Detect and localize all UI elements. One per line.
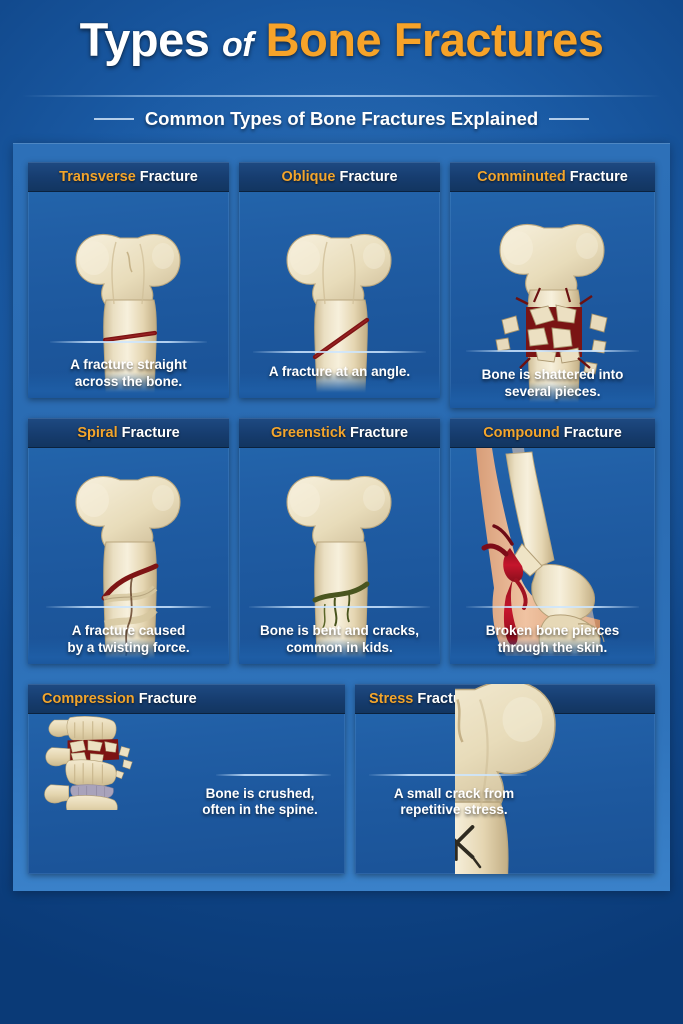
card-title-suffix: Fracture bbox=[350, 425, 408, 441]
card-comminuted-divider bbox=[466, 350, 639, 352]
card-compound-caption: Broken bone pierces through the skin. bbox=[450, 623, 655, 656]
card-compression-divider bbox=[216, 774, 331, 776]
caption-line-2: common in kids. bbox=[239, 640, 440, 656]
card-title-keyword: Compression bbox=[42, 691, 135, 707]
caption-line-2: across the bone. bbox=[28, 374, 229, 390]
card-compound-body: Broken bone pierces through the skin. bbox=[450, 448, 655, 664]
subtitle-dash-right bbox=[549, 118, 589, 120]
card-compression[interactable]: Compression Fracture bbox=[28, 684, 345, 874]
card-spiral-body: A fracture caused by a twisting force. bbox=[28, 448, 229, 664]
card-compression-caption: Bone is crushed, often in the spine. bbox=[185, 786, 335, 819]
title-word-bone-fractures: Bone Fractures bbox=[266, 13, 604, 66]
card-comminuted-header: Comminuted Fracture bbox=[450, 162, 655, 192]
card-title-suffix: Fracture bbox=[140, 169, 198, 185]
card-title-keyword: Transverse bbox=[59, 169, 136, 185]
card-oblique[interactable]: Oblique Fracture bbox=[239, 162, 440, 398]
caption-line-1: Broken bone pierces bbox=[450, 623, 655, 639]
card-title-keyword: Oblique bbox=[281, 169, 335, 185]
card-compound-title: Compound Fracture bbox=[483, 425, 622, 441]
card-oblique-divider bbox=[253, 351, 426, 353]
card-stress-body: A small crack from repetitive stress. bbox=[355, 714, 655, 874]
card-greenstick-caption: Bone is bent and cracks, common in kids. bbox=[239, 623, 440, 656]
card-greenstick[interactable]: Greenstick Fracture bbox=[239, 418, 440, 664]
cards-panel: Transverse Fracture bbox=[13, 143, 670, 891]
card-title-suffix: Fracture bbox=[139, 691, 197, 707]
card-compound-header: Compound Fracture bbox=[450, 418, 655, 448]
card-title-keyword: Spiral bbox=[77, 425, 117, 441]
card-comminuted-caption: Bone is shattered into several pieces. bbox=[450, 367, 655, 400]
card-title-keyword: Compound bbox=[483, 425, 560, 441]
card-title-suffix: Fracture bbox=[564, 425, 622, 441]
page-subtitle: Common Types of Bone Fractures Explained bbox=[145, 108, 538, 130]
caption-line-1: A fracture straight bbox=[28, 357, 229, 373]
poster-header: Types of Bone Fractures Common Types of … bbox=[0, 0, 683, 143]
caption-line-2: repetitive stress. bbox=[369, 802, 539, 818]
card-transverse-caption: A fracture straight across the bone. bbox=[28, 357, 229, 390]
card-spiral-title: Spiral Fracture bbox=[77, 425, 179, 441]
card-oblique-title: Oblique Fracture bbox=[281, 169, 397, 185]
header-rule bbox=[22, 95, 661, 97]
caption-line-1: A fracture at an angle. bbox=[239, 364, 440, 380]
card-compression-body: Bone is crushed, often in the spine. bbox=[28, 714, 345, 874]
card-transverse-header: Transverse Fracture bbox=[28, 162, 229, 192]
caption-line-2: often in the spine. bbox=[185, 802, 335, 818]
card-transverse-divider bbox=[50, 341, 207, 343]
card-title-keyword: Greenstick bbox=[271, 425, 346, 441]
card-comminuted-body: Bone is shattered into several pieces. bbox=[450, 192, 655, 408]
card-transverse-title: Transverse Fracture bbox=[59, 169, 198, 185]
card-title-keyword: Comminuted bbox=[477, 169, 566, 185]
caption-line-1: Bone is bent and cracks, bbox=[239, 623, 440, 639]
card-stress-divider bbox=[369, 774, 527, 776]
title-word-types: Types bbox=[80, 13, 210, 66]
card-stress[interactable]: Stress Fracture bbox=[355, 684, 655, 874]
caption-line-1: Bone is crushed, bbox=[185, 786, 335, 802]
card-title-keyword: Stress bbox=[369, 691, 413, 707]
bone-stress-illustration bbox=[455, 684, 655, 874]
card-spiral-divider bbox=[46, 606, 211, 608]
card-title-suffix: Fracture bbox=[339, 169, 397, 185]
caption-line-2: several pieces. bbox=[450, 384, 655, 400]
card-stress-caption: A small crack from repetitive stress. bbox=[369, 786, 539, 819]
card-compound-divider bbox=[466, 606, 639, 608]
card-spiral-caption: A fracture caused by a twisting force. bbox=[28, 623, 229, 656]
card-comminuted[interactable]: Comminuted Fracture bbox=[450, 162, 655, 408]
subtitle-dash-left bbox=[94, 118, 134, 120]
caption-line-1: A small crack from bbox=[369, 786, 539, 802]
caption-line-1: A fracture caused bbox=[28, 623, 229, 639]
card-compression-title: Compression Fracture bbox=[42, 691, 197, 707]
card-oblique-header: Oblique Fracture bbox=[239, 162, 440, 192]
card-greenstick-title: Greenstick Fracture bbox=[271, 425, 408, 441]
card-title-suffix: Fracture bbox=[122, 425, 180, 441]
card-compression-header: Compression Fracture bbox=[28, 684, 345, 714]
caption-line-2: by a twisting force. bbox=[28, 640, 229, 656]
caption-line-1: Bone is shattered into bbox=[450, 367, 655, 383]
subtitle-row: Common Types of Bone Fractures Explained bbox=[0, 108, 683, 130]
card-compound[interactable]: Compound Fracture bbox=[450, 418, 655, 664]
card-greenstick-header: Greenstick Fracture bbox=[239, 418, 440, 448]
title-word-of: of bbox=[222, 26, 253, 64]
card-spiral-header: Spiral Fracture bbox=[28, 418, 229, 448]
card-greenstick-divider bbox=[249, 606, 430, 608]
card-oblique-caption: A fracture at an angle. bbox=[239, 364, 440, 380]
page-title: Types of Bone Fractures bbox=[0, 16, 683, 63]
card-oblique-body: A fracture at an angle. bbox=[239, 192, 440, 398]
card-spiral[interactable]: Spiral Fracture bbox=[28, 418, 229, 664]
card-title-suffix: Fracture bbox=[570, 169, 628, 185]
card-transverse[interactable]: Transverse Fracture bbox=[28, 162, 229, 398]
card-transverse-body: A fracture straight across the bone. bbox=[28, 192, 229, 398]
caption-line-2: through the skin. bbox=[450, 640, 655, 656]
card-comminuted-title: Comminuted Fracture bbox=[477, 169, 628, 185]
card-greenstick-body: Bone is bent and cracks, common in kids. bbox=[239, 448, 440, 664]
